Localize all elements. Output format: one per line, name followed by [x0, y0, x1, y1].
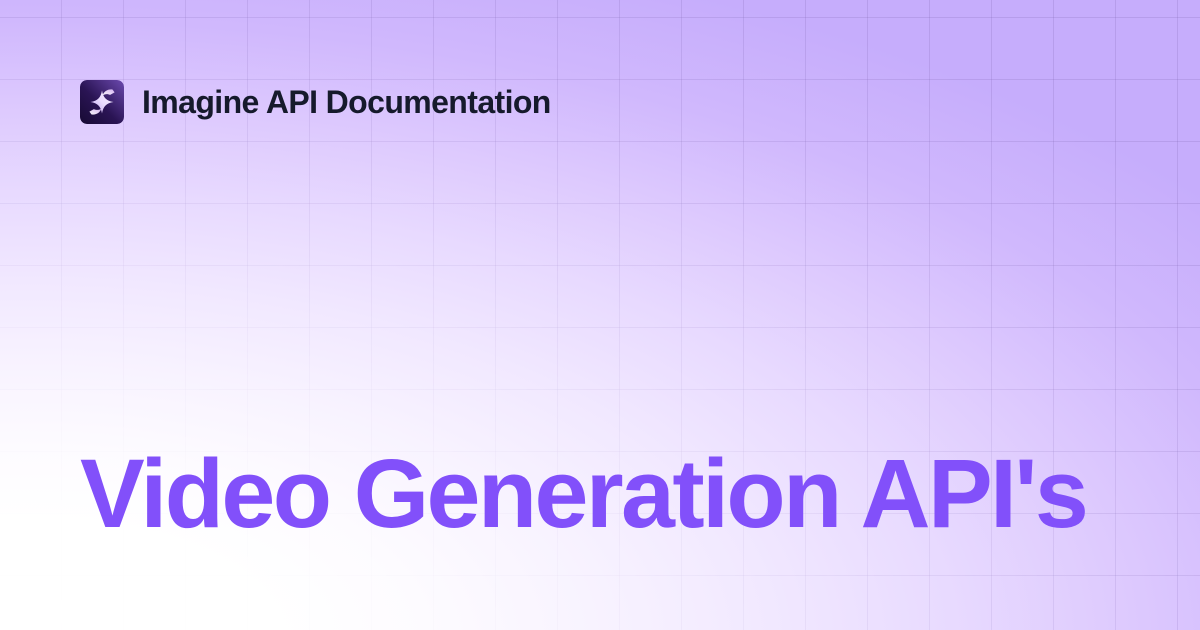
- brand-title: Imagine API Documentation: [142, 80, 551, 124]
- og-card: Imagine API Documentation Video Generati…: [0, 0, 1200, 630]
- brand-row: Imagine API Documentation: [80, 80, 551, 124]
- page-headline: Video Generation API's: [80, 440, 1140, 549]
- sparkle-logo-icon: [80, 80, 124, 124]
